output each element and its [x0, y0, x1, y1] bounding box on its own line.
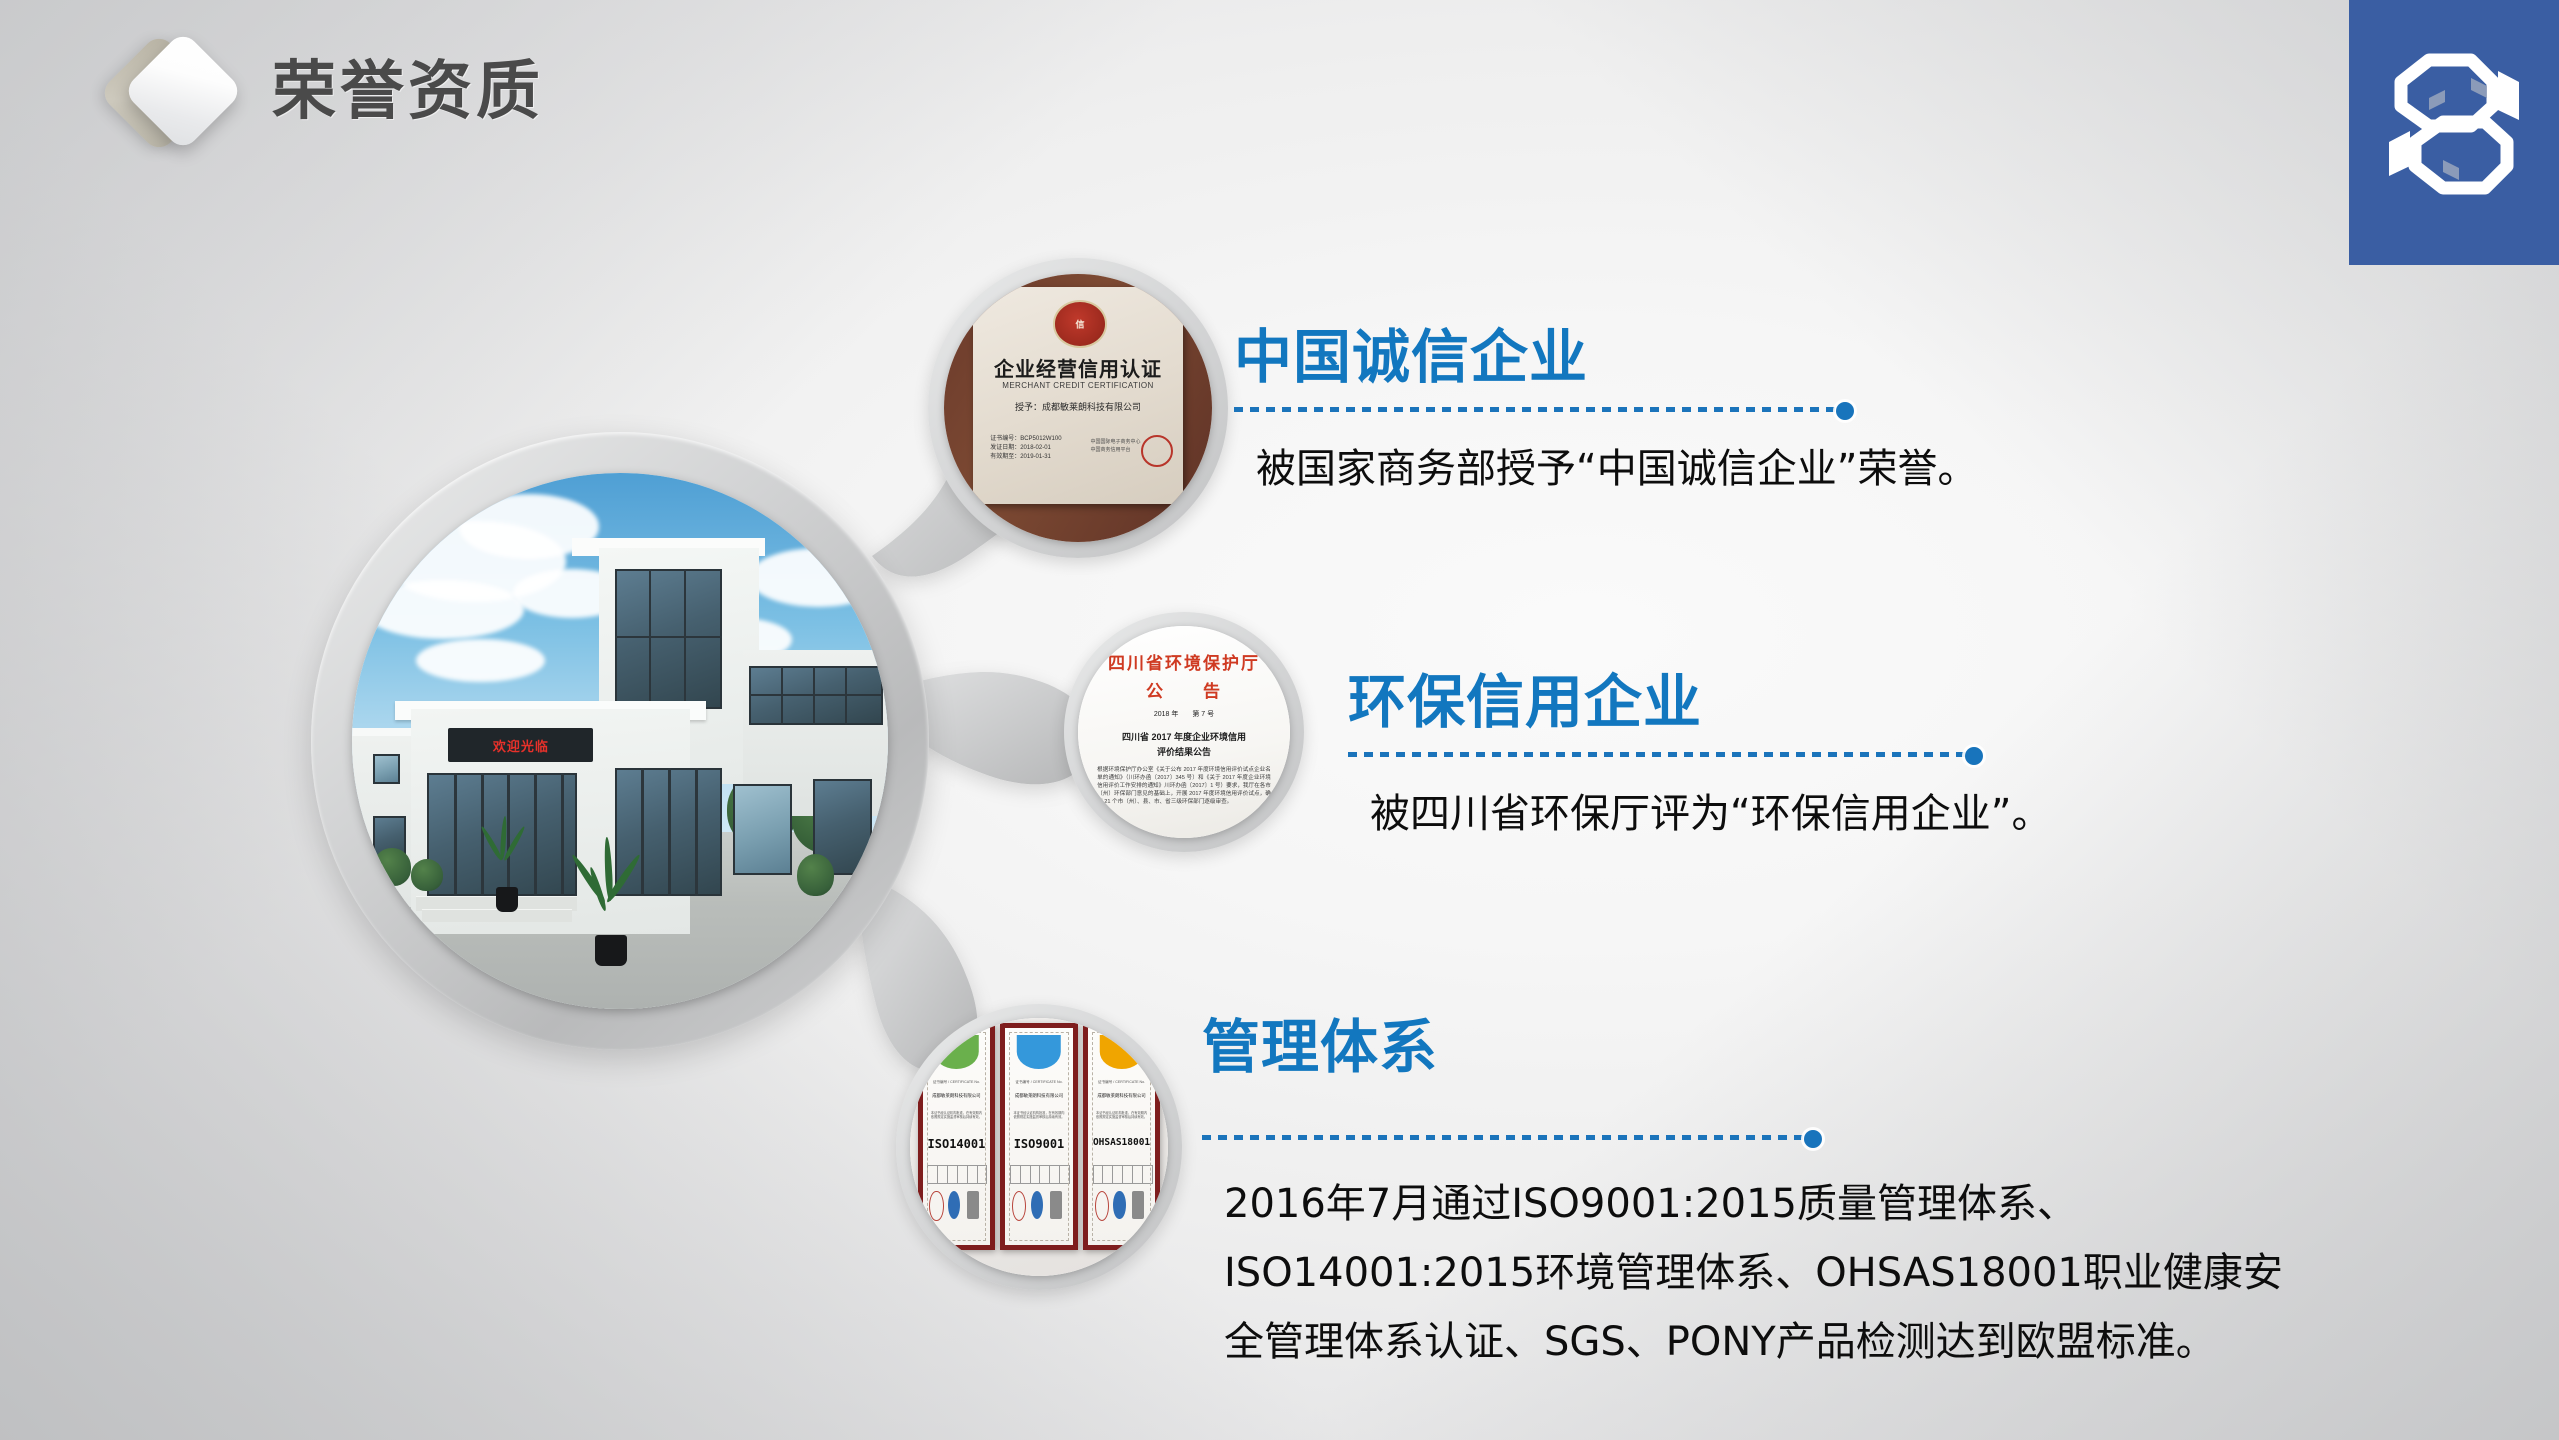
iso-code-label: OHSAS18001 — [1088, 1137, 1155, 1148]
section-block-environment: 环保信用企业 被四川省环保厅评为“环保信用企业”。 — [1348, 655, 2328, 845]
card-note: 本证书经认证机构批准，在有效期内依照规定实施监督审核后持续有效。 — [1095, 1111, 1149, 1120]
potted-palm — [577, 837, 647, 966]
red-stamp-icon — [1141, 435, 1173, 467]
shrub-shape — [797, 854, 835, 897]
certificate-issuer: 中国国际电子商务中心 中国商务信用平台 — [1091, 439, 1141, 454]
card-caption: 证书编号 / CERTIFICATE No. — [1095, 1080, 1149, 1085]
window-mullion — [454, 773, 457, 896]
iso-certificates-group: 证书编号 / CERTIFICATE No. 成都敏莱朗科技有限公司 本证书经认… — [910, 1018, 1168, 1276]
cloud-shape — [416, 639, 545, 682]
announcement-body: 根据环境保护厅办公室《关于公布 2017 年度环境信用评价试点企业名单的通知》（… — [1097, 766, 1271, 807]
section-block-management: 管理体系 2016年7月通过ISO9001:2015质量管理体系、 ISO140… — [1202, 1000, 2452, 1376]
card-note: 本证书经认证机构批准，在有效期内依照规定实施监督审核后持续有效。 — [929, 1111, 983, 1120]
iso-signature-icon — [1050, 1191, 1062, 1219]
iso-stamp-icon — [948, 1191, 960, 1219]
window-mullion — [534, 773, 537, 896]
announcement-subject-line-2: 评价结果公告 — [1078, 745, 1290, 758]
certificate-en-title: MERCHANT CREDIT CERTIFICATION — [973, 381, 1182, 390]
side-glass — [733, 784, 792, 875]
announcement-issue-no: 2018 年 第 7 号 — [1078, 709, 1290, 719]
shrub-shape — [373, 848, 411, 886]
iso-code-label: ISO9001 — [1005, 1137, 1072, 1151]
certificate-meta: 证书编号：BCP5012W100 发证日期：2018-02-01 有效期至：20… — [990, 435, 1061, 462]
diamond-badge-icon — [96, 28, 256, 158]
merchant-credit-certificate: 信 企业经营信用认证 MERCHANT CREDIT CERTIFICATION… — [944, 274, 1212, 542]
window-mullion — [649, 569, 651, 708]
iso-detail-table — [1093, 1165, 1153, 1184]
section-title-management: 管理体系 — [1202, 1000, 2452, 1084]
seal-character: 信 — [1075, 318, 1084, 331]
card-note: 本证书经认证机构批准，在有效期内依照规定实施监督审核后持续有效。 — [1012, 1111, 1066, 1120]
iso-badge-icon — [934, 1035, 978, 1070]
curtain-wall-glass — [615, 569, 722, 708]
card-caption: 证书编号 / CERTIFICATE No. — [1012, 1080, 1066, 1085]
card-caption: 证书编号 / CERTIFICATE No. — [929, 1080, 983, 1085]
slide-header: 荣誉资质 — [0, 0, 2559, 190]
announcement-doc-type: 公 告 — [1078, 677, 1290, 702]
led-sign: 欢迎光临 — [448, 728, 593, 763]
iso-certificate-card: 证书编号 / CERTIFICATE No. 成都敏莱朗科技有限公司 本证书经认… — [1000, 1023, 1077, 1250]
iso-certificate-card: 证书编号 / CERTIFICATE No. 成都敏莱朗科技有限公司 本证书经认… — [918, 1023, 995, 1250]
iso-stamp-icon — [1031, 1191, 1043, 1219]
section-divider-management — [1202, 1130, 1822, 1144]
certificate-awarded-to: 授予：成都敏莱朗科技有限公司 — [973, 400, 1182, 413]
meta-line: 发证日期：2018-02-01 — [990, 444, 1061, 453]
page-title: 荣誉资质 — [272, 40, 544, 132]
potted-palm — [481, 816, 535, 912]
cloud-shape — [363, 580, 524, 639]
section-divider-credit — [1234, 402, 1854, 416]
dotted-line — [1202, 1135, 1806, 1140]
section-title-credit: 中国诚信企业 — [1234, 310, 2174, 394]
issuer-line: 中国商务信用平台 — [1091, 447, 1141, 455]
iso-badge-icon — [1017, 1035, 1061, 1070]
card-subject: 成都敏莱朗科技有限公司 — [1095, 1093, 1149, 1099]
card-subject: 成都敏莱朗科技有限公司 — [929, 1093, 983, 1099]
card-subject: 成都敏莱朗科技有限公司 — [1012, 1093, 1066, 1099]
plant-pot — [595, 935, 627, 966]
dotted-line — [1234, 407, 1838, 412]
window-mullion — [615, 636, 722, 638]
section-body-management: 2016年7月通过ISO9001:2015质量管理体系、 ISO14001:20… — [1224, 1170, 2452, 1376]
credit-seal-icon: 信 — [1053, 300, 1107, 347]
iso-stamp-icon — [1113, 1191, 1125, 1219]
plant-pot — [496, 887, 519, 912]
plaque-board: 信 企业经营信用认证 MERCHANT CREDIT CERTIFICATION… — [973, 287, 1182, 504]
announcement-authority: 四川省环境保护厅 — [1078, 649, 1290, 674]
section-block-credit: 中国诚信企业 被国家商务部授予“中国诚信企业”荣誉。 — [1234, 310, 2174, 500]
iso-code-label: ISO14001 — [923, 1137, 990, 1151]
iso-detail-table — [927, 1165, 987, 1184]
shrub-shape — [411, 859, 443, 891]
divider-endpoint-dot — [1965, 747, 1983, 765]
window-mullion — [695, 768, 698, 897]
iso-certificate-card: 证书编号 / CERTIFICATE No. 成都敏莱朗科技有限公司 本证书经认… — [1083, 1023, 1160, 1250]
company-building-photo: 欢迎光临 — [352, 473, 888, 1009]
section-divider-environment — [1348, 747, 1983, 761]
window-pane — [373, 754, 400, 783]
section-title-environment: 环保信用企业 — [1348, 655, 2328, 739]
iso-signature-icon — [967, 1191, 979, 1219]
section-body-environment: 被四川省环保厅评为“环保信用企业”。 — [1370, 783, 2328, 845]
led-sign-text: 欢迎光临 — [493, 736, 549, 755]
dotted-line — [1348, 752, 1967, 757]
window-mullion — [561, 773, 564, 896]
iso-signature-icon — [1132, 1191, 1144, 1219]
iso-stamp-icon — [1095, 1191, 1109, 1221]
divider-endpoint-dot — [1804, 1130, 1822, 1148]
window-mullion — [684, 569, 686, 708]
iso-badge-icon — [1099, 1035, 1143, 1070]
section-body-credit: 被国家商务部授予“中国诚信企业”荣誉。 — [1256, 438, 2174, 500]
iso-stamp-icon — [1012, 1191, 1026, 1221]
window-mullion — [749, 694, 883, 696]
divider-endpoint-dot — [1836, 402, 1854, 420]
meta-line: 有效期至：2019-01-31 — [990, 453, 1061, 462]
cloud-shape — [749, 548, 888, 607]
iso-detail-table — [1010, 1165, 1070, 1184]
window-mullion — [668, 768, 671, 897]
issuer-line: 中国国际电子商务中心 — [1091, 439, 1141, 447]
company-logo-icon — [2349, 0, 2559, 265]
certificate-cn-title: 企业经营信用认证 — [973, 353, 1182, 382]
sichuan-environment-announcement: 四川省环境保护厅 公 告 2018 年 第 7 号 四川省 2017 年度企业环… — [1078, 626, 1290, 838]
iso-stamp-icon — [929, 1191, 943, 1221]
meta-line: 证书编号：BCP5012W100 — [990, 435, 1061, 444]
announcement-subject-line-1: 四川省 2017 年度企业环境信用 — [1078, 730, 1290, 743]
